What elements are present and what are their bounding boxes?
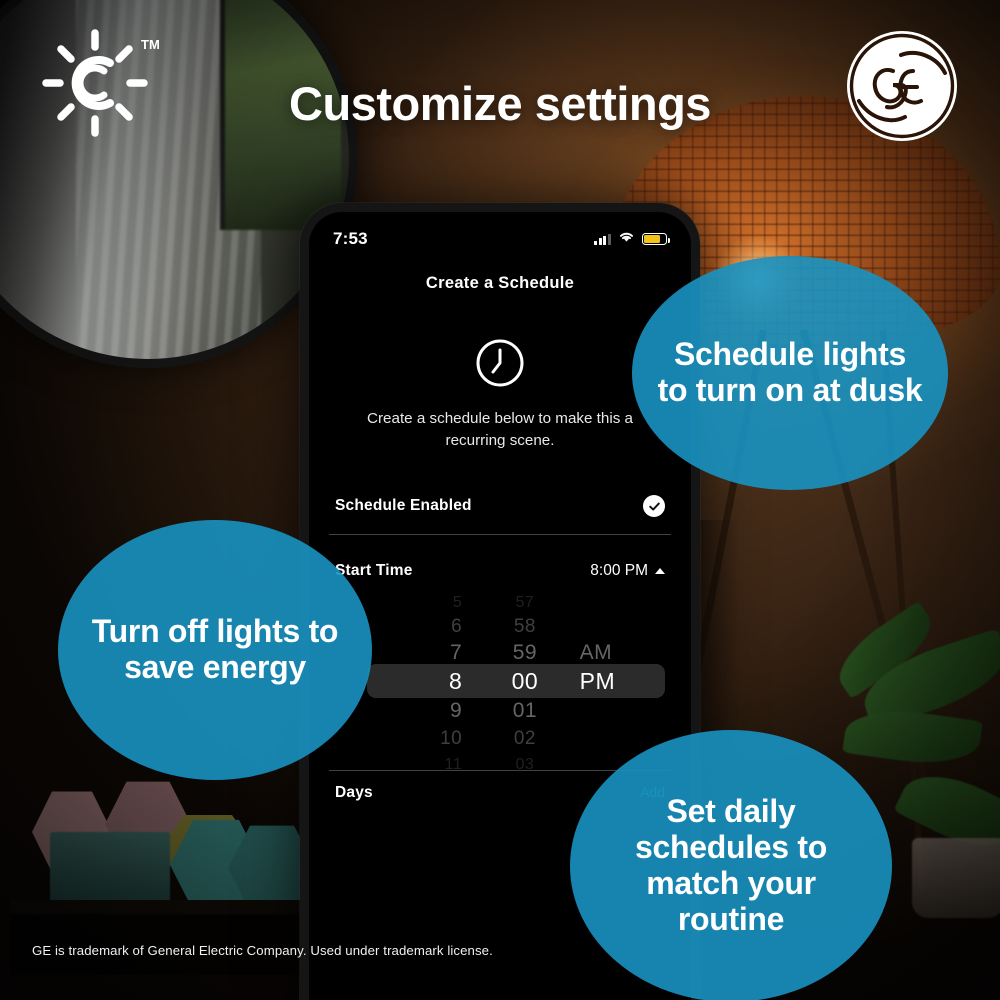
hour-option[interactable]: 9: [367, 696, 480, 726]
days-label: Days: [335, 784, 373, 802]
meridiem-wheel[interactable]: AM PM: [570, 590, 665, 762]
minute-option-selected[interactable]: 00: [480, 666, 569, 696]
meridiem-option[interactable]: AM: [570, 638, 665, 668]
check-icon: [648, 500, 661, 513]
cellular-bars-icon: [594, 234, 611, 245]
minute-option[interactable]: 03: [480, 750, 569, 780]
feature-bubble-turn-off-lights: Turn off lights to save energy: [58, 520, 372, 780]
schedule-description: Create a schedule below to make this a r…: [343, 408, 657, 451]
start-time-label: Start Time: [335, 562, 413, 580]
schedule-enabled-checkbox[interactable]: [643, 495, 665, 517]
meridiem-option-selected[interactable]: PM: [570, 666, 665, 696]
wifi-icon: [618, 230, 635, 248]
svg-text:TM: TM: [141, 37, 160, 52]
feature-bubble-set-daily: Set daily schedules to match your routin…: [570, 730, 892, 1000]
start-time-value: 8:00 PM: [590, 562, 648, 580]
battery-low-power-icon: [642, 233, 667, 245]
page-title: Customize settings: [0, 76, 1000, 131]
schedule-enabled-row[interactable]: Schedule Enabled: [335, 495, 665, 517]
hour-option[interactable]: 7: [367, 638, 480, 668]
schedule-enabled-label: Schedule Enabled: [335, 497, 472, 515]
start-time-value-group[interactable]: 8:00 PM: [590, 562, 665, 580]
divider: [329, 534, 671, 535]
hour-wheel[interactable]: 5 6 7 8 9 10 11: [367, 590, 480, 762]
app-screen-title: Create a Schedule: [309, 274, 691, 293]
minute-wheel[interactable]: 57 58 59 00 01 02 03: [480, 590, 569, 762]
start-time-row[interactable]: Start Time 8:00 PM: [335, 562, 665, 580]
feature-bubble-schedule-dusk: Schedule lights to turn on at dusk: [632, 256, 948, 490]
time-picker[interactable]: 5 6 7 8 9 10 11 57 58 59 00 01 02 03: [367, 590, 665, 762]
trademark-footer: GE is trademark of General Electric Comp…: [32, 943, 493, 958]
minute-option[interactable]: 59: [480, 638, 569, 668]
hour-option[interactable]: 11: [367, 750, 480, 780]
status-bar: 7:53: [309, 226, 691, 252]
chevron-up-icon[interactable]: [655, 568, 665, 574]
hour-option-selected[interactable]: 8: [367, 666, 480, 696]
minute-option[interactable]: 01: [480, 696, 569, 726]
status-bar-time: 7:53: [333, 229, 368, 249]
